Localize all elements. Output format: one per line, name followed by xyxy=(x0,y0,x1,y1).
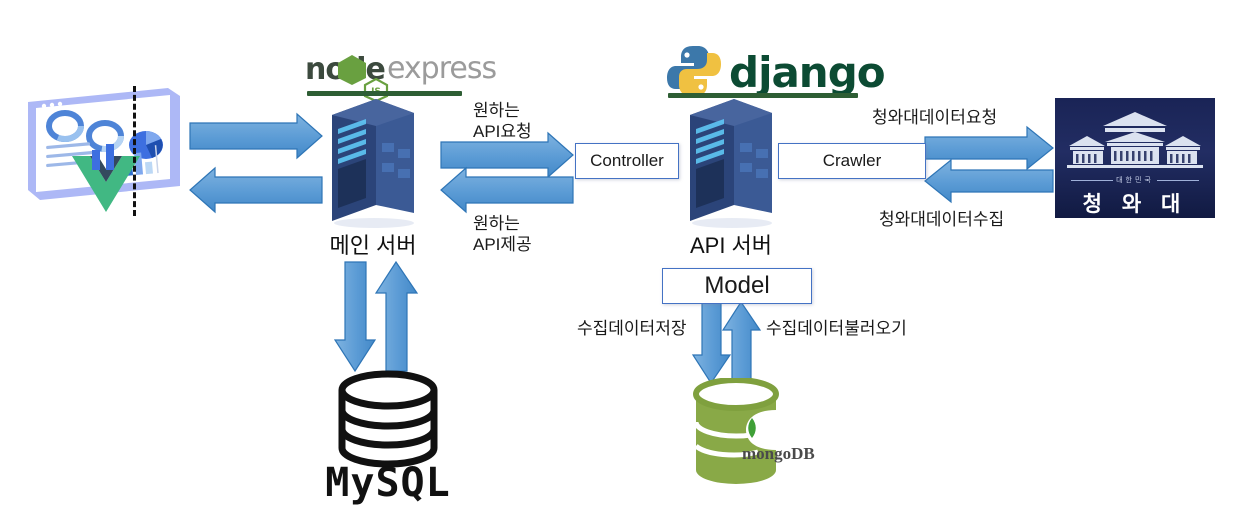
arrow-bluehouse-to-crawler xyxy=(925,160,1053,202)
django-logo-text: django xyxy=(729,48,885,97)
mongodb-label: mongoDB xyxy=(742,444,815,464)
controller-box[interactable]: Controller xyxy=(575,143,679,179)
arrow-mongodb-to-model xyxy=(723,302,760,383)
arrow-model-to-mongodb xyxy=(693,302,730,383)
api-server-icon xyxy=(676,93,786,228)
arrow-main-to-mysql xyxy=(335,262,375,371)
arrow-main-to-client xyxy=(190,168,322,212)
client-boundary-dashed-line xyxy=(133,86,136,216)
mongodb-logo xyxy=(688,378,798,496)
python-logo-icon xyxy=(665,44,723,98)
bluehouse-emblem: 대한민국 청 와 대 xyxy=(1055,98,1215,218)
label-bluehouse-data-collect: 청와대데이터수집 xyxy=(879,209,1004,230)
main-server-caption: 메인 서버 xyxy=(303,228,443,260)
bluehouse-subtitle: 대한민국 xyxy=(1055,175,1215,185)
api-server-caption: API 서버 xyxy=(661,228,801,260)
arrow-layer xyxy=(0,0,1236,516)
label-bluehouse-data-request: 청와대데이터요청 xyxy=(872,107,997,128)
client-dashboard-illustration xyxy=(20,78,185,213)
express-logo-text: express xyxy=(387,51,496,86)
crawler-box[interactable]: Crawler xyxy=(778,143,926,179)
label-api-provide: 원하는 API제공 xyxy=(473,213,532,256)
bluehouse-building-icon xyxy=(1065,110,1205,174)
label-api-request: 원하는 API요청 xyxy=(473,100,532,143)
arrow-crawler-to-bluehouse xyxy=(925,127,1053,169)
label-save-collected-data: 수집데이터저장 xyxy=(577,318,686,339)
mysql-label: MySQL xyxy=(313,460,463,506)
python-django-logo: django xyxy=(665,44,865,96)
bluehouse-title: 청 와 대 xyxy=(1055,188,1215,218)
arrow-client-to-main xyxy=(190,114,322,158)
arrow-api-to-main xyxy=(441,168,573,212)
main-server-icon xyxy=(318,93,428,228)
label-load-collected-data: 수집데이터불러오기 xyxy=(766,318,907,339)
mongodb-cylinder-icon xyxy=(688,378,798,496)
arrow-mysql-to-main xyxy=(376,262,417,371)
diagram-canvas: node express JS django xyxy=(0,0,1236,516)
model-box[interactable]: Model xyxy=(662,268,812,304)
